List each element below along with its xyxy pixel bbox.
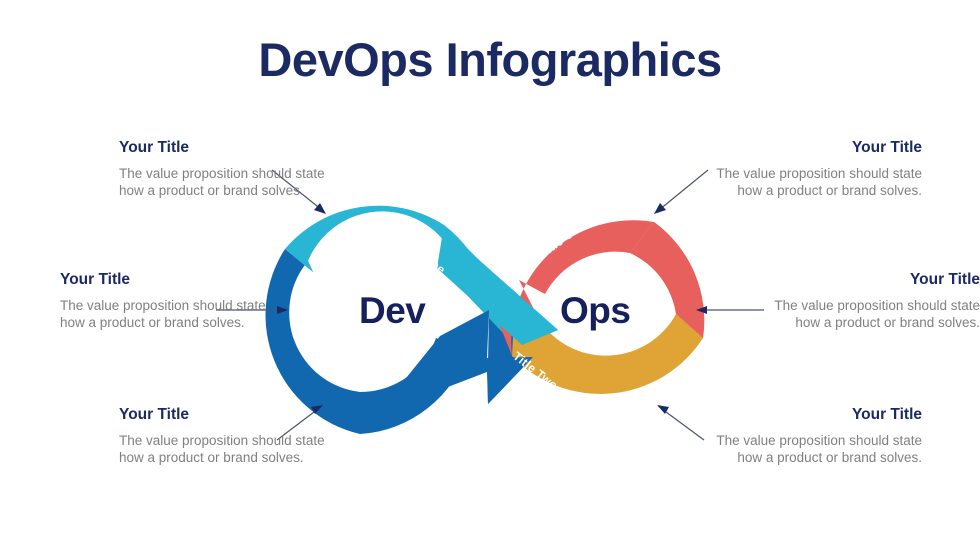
top-right-connector-arrow xyxy=(654,170,708,214)
callout-title: Your Title xyxy=(119,406,334,425)
callout-bottom-right[interactable]: Your Title The value proposition should … xyxy=(707,406,922,467)
callout-body: The value proposition should state how a… xyxy=(707,165,922,201)
callout-title: Your Title xyxy=(765,271,980,290)
callout-top-left[interactable]: Your Title The value proposition should … xyxy=(119,139,334,200)
callout-body: The value proposition should state how a… xyxy=(119,432,334,468)
callout-title: Your Title xyxy=(707,139,922,158)
callout-top-right[interactable]: Your Title The value proposition should … xyxy=(707,139,922,200)
callout-title: Your Title xyxy=(60,271,275,290)
callout-middle-left[interactable]: Your Title The value proposition should … xyxy=(60,271,275,332)
callout-body: The value proposition should state how a… xyxy=(60,297,275,333)
callout-title: Your Title xyxy=(707,406,922,425)
callout-title: Your Title xyxy=(119,139,334,158)
callout-middle-right[interactable]: Your Title The value proposition should … xyxy=(765,271,980,332)
callout-bottom-left[interactable]: Your Title The value proposition should … xyxy=(119,406,334,467)
callout-body: The value proposition should state how a… xyxy=(765,297,980,333)
middle-right-connector-arrow xyxy=(696,306,764,314)
bottom-right-connector-arrow xyxy=(657,405,704,440)
callout-body: The value proposition should state how a… xyxy=(707,432,922,468)
callout-body: The value proposition should state how a… xyxy=(119,165,334,201)
infographic-slide: DevOps Infographics xyxy=(0,0,980,551)
